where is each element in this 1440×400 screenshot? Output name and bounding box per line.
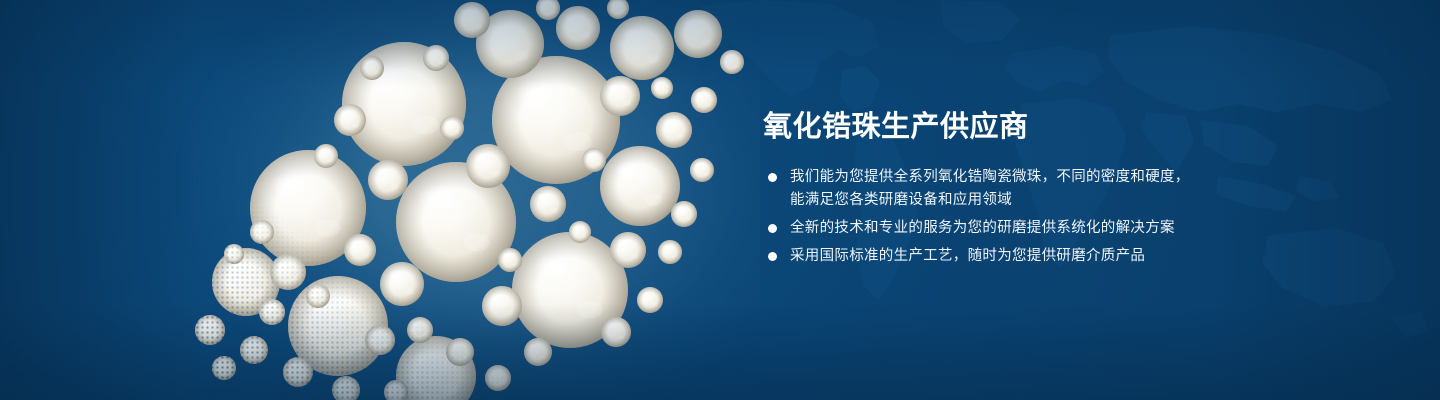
bullet-text-line: 全新的技术和专业的服务为您的研磨提供系统化的解决方案	[790, 217, 1383, 240]
list-item: 我们能为您提供全系列氧化锆陶瓷微珠，不同的密度和硬度， 能满足您各类研磨设备和应…	[763, 166, 1383, 212]
list-item: 采用国际标准的生产工艺，随时为您提供研磨介质产品	[763, 245, 1383, 268]
hero-banner: 氧化锆珠生产供应商 我们能为您提供全系列氧化锆陶瓷微珠，不同的密度和硬度， 能满…	[0, 0, 1440, 400]
bullet-dot-icon	[768, 173, 777, 182]
bullet-dot-icon	[768, 224, 777, 233]
banner-copy: 氧化锆珠生产供应商 我们能为您提供全系列氧化锆陶瓷微珠，不同的密度和硬度， 能满…	[763, 108, 1383, 268]
feature-list: 我们能为您提供全系列氧化锆陶瓷微珠，不同的密度和硬度， 能满足您各类研磨设备和应…	[763, 166, 1383, 268]
bullet-text-line: 能满足您各类研磨设备和应用领域	[790, 189, 1383, 212]
page-title: 氧化锆珠生产供应商	[763, 108, 1383, 144]
bullet-dot-icon	[768, 252, 777, 261]
list-item: 全新的技术和专业的服务为您的研磨提供系统化的解决方案	[763, 217, 1383, 240]
bullet-text-line: 采用国际标准的生产工艺，随时为您提供研磨介质产品	[790, 245, 1383, 268]
bullet-text-line: 我们能为您提供全系列氧化锆陶瓷微珠，不同的密度和硬度，	[790, 166, 1383, 189]
